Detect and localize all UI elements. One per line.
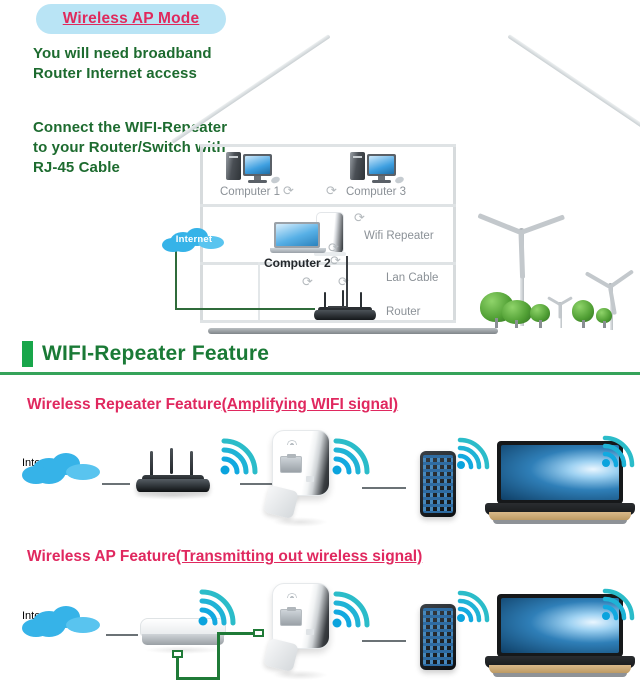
internet-cloud-icon: Internet [162, 226, 226, 252]
lan-cable-vertical [346, 256, 348, 308]
house-diagram: Computer 1 ⟳ Computer 3 ⟳ ⟳ Wifi Repeate… [178, 44, 478, 324]
ap-feature-subtitle-plain: Wireless AP Feature [27, 548, 176, 565]
tree-trunk [495, 318, 498, 328]
wan-link-line [102, 483, 130, 485]
feature-section-heading: WIFI-Repeater Feature [22, 341, 269, 367]
roof-left-edge [171, 34, 331, 144]
wifi-signal-icon [600, 435, 636, 469]
computer-1-icon [226, 150, 280, 188]
house-floor-line [200, 204, 456, 207]
wifi-signal-icon [330, 590, 372, 630]
smartphone-device [420, 604, 456, 670]
wan-link-line [106, 634, 138, 636]
tree-trunk [582, 320, 585, 328]
internet-cable-horizontal [175, 308, 315, 310]
roof-right-edge [507, 34, 640, 144]
rj45-port-switch [172, 650, 183, 658]
heading-accent-bar [22, 341, 33, 367]
wifi-repeater-device [266, 583, 338, 675]
router-reflection [134, 491, 212, 500]
internet-cloud-icon: Internet [22, 606, 100, 640]
feature-heading-rule [0, 372, 640, 375]
wifi-repeater-device [266, 430, 338, 522]
computer-2-icon [270, 222, 326, 256]
rj45-port-repeater [253, 629, 264, 637]
lan-cable-horizontal [328, 306, 348, 308]
router-label: Router [386, 306, 421, 318]
client-link-line [362, 487, 406, 489]
client-link-line [362, 640, 406, 642]
internet-cable-vertical [175, 244, 177, 310]
wifi-signal-icon [600, 588, 636, 622]
tree-trunk [515, 320, 518, 328]
feature-heading-label: WIFI-Repeater Feature [42, 342, 269, 366]
repeater-reflection [272, 670, 328, 680]
computer-2-label: Computer 2 [264, 256, 331, 270]
computer-3-label: Computer 3 [346, 186, 406, 198]
repeater-mode-illustration: Internet [0, 425, 640, 535]
tree-icon [572, 300, 594, 322]
lan-cable-label: Lan Cable [386, 272, 438, 284]
ground-bar [208, 328, 498, 334]
internet-cloud-icon: Internet [22, 453, 100, 487]
mode-badge-label: Wireless AP Mode [63, 10, 200, 28]
switch-reflection [144, 646, 222, 654]
mode-badge: Wireless AP Mode [36, 4, 226, 34]
wifi-repeater-label: Wifi Repeater [364, 230, 434, 242]
wireless-ap-mode-section: Wireless AP Mode You will need broadband… [0, 0, 640, 340]
computer-3-icon [350, 150, 404, 188]
wifi-arc-icon: ⟳ [326, 183, 337, 199]
wifi-arc-icon: ⟳ [354, 210, 365, 226]
ap-feature-subtitle: Wireless AP Feature(Transmitting out wir… [27, 548, 422, 566]
repeater-feature-subtitle-underlined: (Amplifying WIFI signal) [222, 396, 399, 413]
tree-trunk [539, 320, 542, 328]
internet-cloud-label: Internet [162, 226, 232, 252]
smartphone-device [420, 451, 456, 517]
tree-trunk [603, 321, 606, 328]
rj45-cable-segment [217, 632, 220, 680]
rj45-cable-segment [176, 677, 220, 680]
wifi-arc-icon: ⟳ [283, 183, 294, 199]
ap-mode-illustration: Internet [0, 578, 640, 688]
rj45-cable-segment [217, 632, 257, 635]
repeater-reflection [272, 517, 328, 527]
wifi-signal-icon [196, 588, 238, 628]
wifi-arc-icon: ⟳ [302, 274, 313, 290]
house-inner-divider [258, 262, 260, 320]
house-floor-line [200, 144, 456, 147]
computer-1-label: Computer 1 [220, 186, 280, 198]
wifi-arc-icon: ⟳ [330, 253, 341, 269]
repeater-feature-subtitle: Wireless Repeater Feature(Amplifying WIF… [27, 396, 398, 414]
scenery-wind-turbines [462, 196, 640, 326]
ap-feature-subtitle-underlined: (Transmitting out wireless signal) [176, 548, 422, 565]
wifi-signal-icon [330, 437, 372, 477]
house-wall-right [453, 144, 456, 322]
repeater-feature-subtitle-plain: Wireless Repeater Feature [27, 396, 222, 413]
wifi-signal-icon [218, 437, 260, 477]
